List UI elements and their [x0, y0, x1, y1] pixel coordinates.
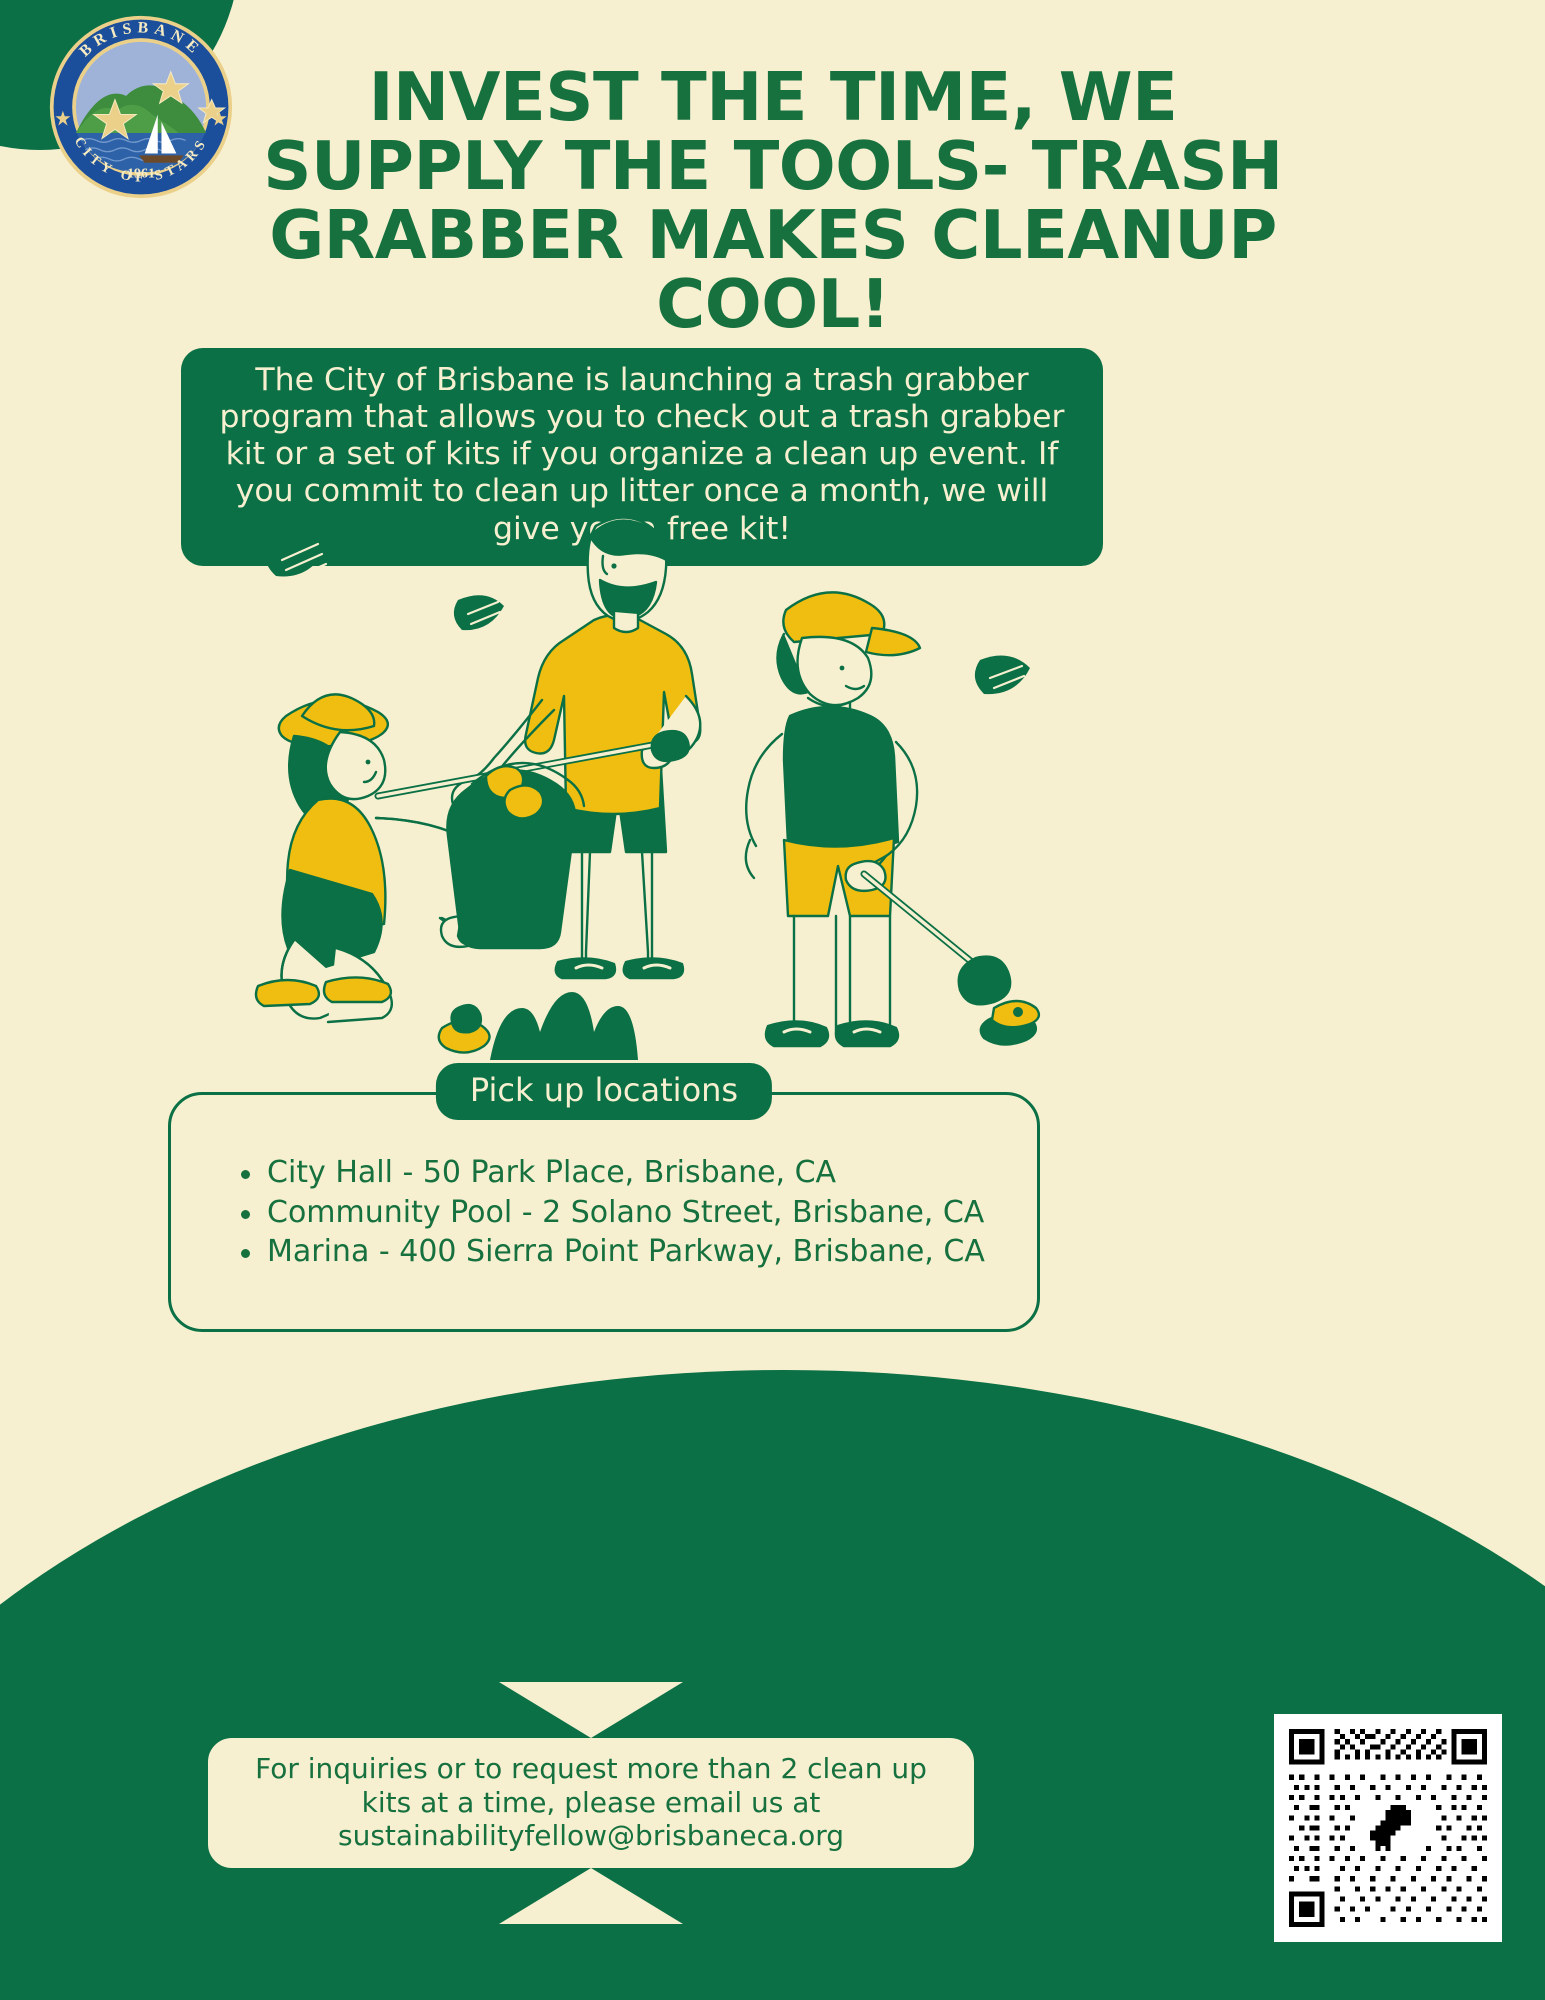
- contact-line-2: kits at a time, please email us at: [208, 1786, 974, 1820]
- volunteers-illustration: [190, 500, 1090, 1080]
- city-seal-logo: BRISBANE CITY OF STARS 1961: [48, 14, 234, 200]
- volunteers-illustration-icon: [190, 500, 1090, 1080]
- contact-email[interactable]: sustainabilityfellow@brisbaneca.org: [208, 1819, 974, 1853]
- contact-line-1: For inquiries or to request more than 2 …: [208, 1752, 974, 1786]
- qr-code[interactable]: [1274, 1714, 1502, 1942]
- header: BRISBANE CITY OF STARS 1961 INVEST THE T…: [0, 0, 1545, 330]
- contact-card: For inquiries or to request more than 2 …: [206, 1736, 976, 1870]
- notch-top-decoration: [499, 1682, 683, 1738]
- pickup-locations-list: City Hall - 50 Park Place, Brisbane, CA …: [171, 1095, 1037, 1272]
- qr-code-icon[interactable]: [1284, 1724, 1492, 1932]
- list-item: Community Pool - 2 Solano Street, Brisba…: [241, 1193, 1037, 1233]
- notch-bottom-decoration: [499, 1868, 683, 1924]
- pickup-locations-card: Pick up locations City Hall - 50 Park Pl…: [168, 1092, 1040, 1332]
- list-item: Marina - 400 Sierra Point Parkway, Brisb…: [241, 1232, 1037, 1272]
- pickup-locations-badge: Pick up locations: [436, 1063, 772, 1120]
- page-title: INVEST THE TIME, WE SUPPLY THE TOOLS- TR…: [238, 63, 1308, 339]
- city-seal-icon: BRISBANE CITY OF STARS 1961: [48, 14, 234, 200]
- list-item: City Hall - 50 Park Place, Brisbane, CA: [241, 1153, 1037, 1193]
- bush-icon: [490, 992, 638, 1060]
- poster: BRISBANE CITY OF STARS 1961 INVEST THE T…: [0, 0, 1545, 2000]
- dinosaur-logo-icon: [1360, 1800, 1416, 1856]
- seal-year-text: 1961: [127, 167, 155, 182]
